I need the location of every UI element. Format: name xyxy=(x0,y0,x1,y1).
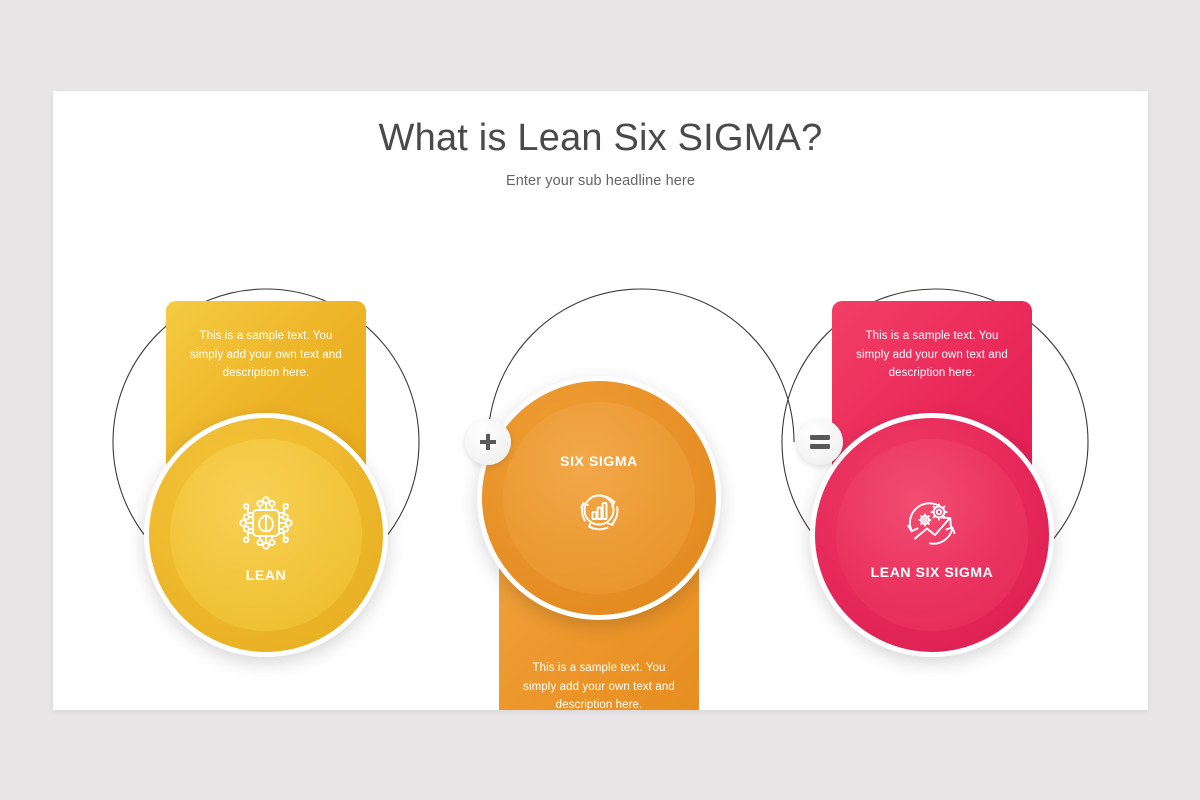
connector-equals[interactable] xyxy=(797,419,843,465)
gears-growth-arrow-icon xyxy=(894,490,970,556)
brain-chip-icon xyxy=(230,487,302,559)
card-lean-six-sigma-text: This is a sample text. You simply add yo… xyxy=(848,327,1016,383)
disc-lean-six-sigma-content: LEAN SIX SIGMA xyxy=(810,413,1054,657)
card-six-sigma-text: This is a sample text. You simply add yo… xyxy=(515,659,683,710)
pillar-lean-six-sigma[interactable]: This is a sample text. You simply add yo… xyxy=(782,301,1082,701)
connector-plus[interactable] xyxy=(465,419,511,465)
disc-lean-label: LEAN xyxy=(246,567,287,583)
slide-canvas: What is Lean Six SIGMA? Enter your sub h… xyxy=(53,91,1148,710)
diagram-stage: This is a sample text. You simply add yo… xyxy=(53,91,1148,710)
disc-lean-six-sigma[interactable]: LEAN SIX SIGMA xyxy=(810,413,1054,657)
disc-lean[interactable]: LEAN xyxy=(144,413,388,657)
pillar-lean[interactable]: This is a sample text. You simply add yo… xyxy=(116,301,416,701)
bar-chart-cycle-icon xyxy=(566,477,632,543)
disc-six-sigma[interactable]: SIX SIGMA xyxy=(477,376,721,620)
disc-six-sigma-content: SIX SIGMA xyxy=(477,376,721,620)
equals-icon xyxy=(809,434,831,450)
card-lean-text: This is a sample text. You simply add yo… xyxy=(182,327,350,383)
pillar-six-sigma[interactable]: SIX SIGMA xyxy=(449,271,749,710)
plus-icon xyxy=(478,432,498,452)
disc-lean-six-sigma-label: LEAN SIX SIGMA xyxy=(871,564,994,580)
disc-lean-content: LEAN xyxy=(144,413,388,657)
disc-six-sigma-label: SIX SIGMA xyxy=(560,453,638,469)
